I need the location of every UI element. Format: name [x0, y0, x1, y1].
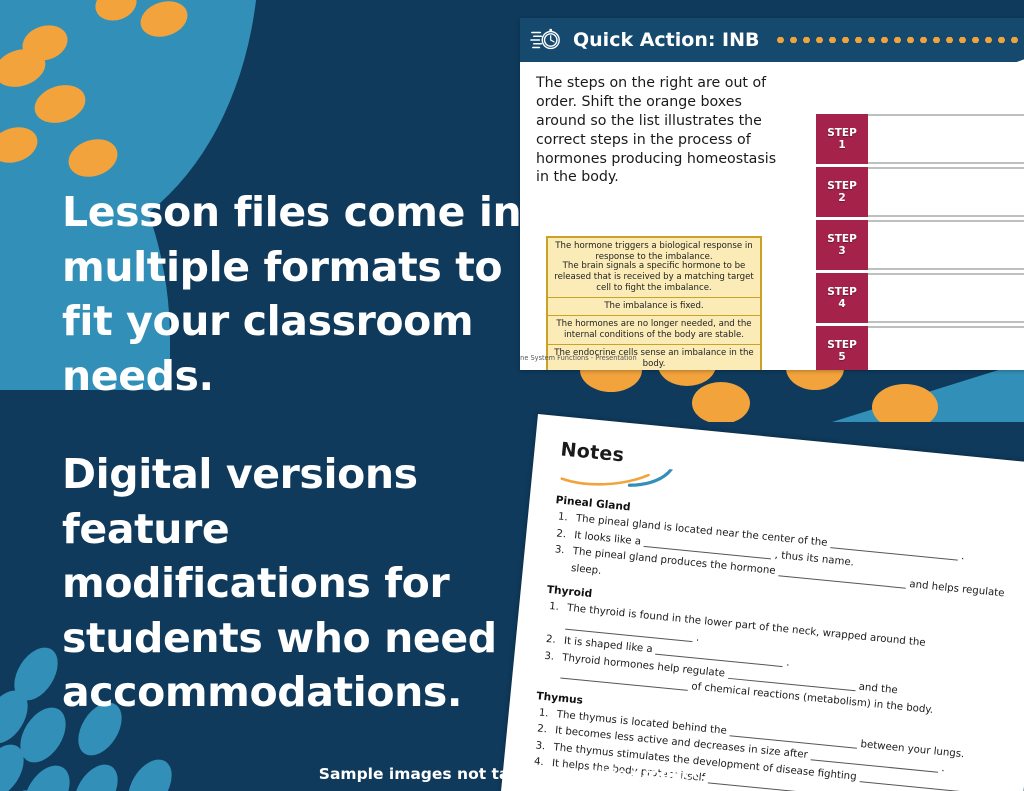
step-chip-label: STEP	[827, 286, 857, 298]
step-chip-label: STEP	[827, 233, 857, 245]
draggable-step-stack: The hormone triggers a biological respon…	[546, 236, 762, 370]
step-chip: STEP 3	[816, 220, 868, 270]
step-chip: STEP 2	[816, 167, 868, 217]
step-chip: STEP 4	[816, 273, 868, 323]
step-chip-number: 5	[838, 351, 845, 363]
list-number: 3.	[535, 738, 546, 755]
list-text-tail: .	[838, 786, 842, 791]
promo-headline-secondary: Digital versions feature modifications f…	[62, 447, 532, 720]
slide-body: The steps on the right are out of order.…	[520, 62, 1024, 370]
orange-dot	[64, 133, 123, 183]
step-row: STEP 2	[816, 167, 1024, 217]
step-chip-label: STEP	[827, 339, 857, 351]
step-row: STEP 5	[816, 326, 1024, 370]
step-drop-slot[interactable]	[868, 273, 1024, 323]
orange-dot	[91, 0, 141, 26]
sample-disclaimer-caption: Sample images not taken from this produc…	[0, 765, 1024, 783]
draggable-step-box[interactable]: The imbalance is fixed.	[548, 298, 760, 316]
list-number: 1.	[548, 599, 559, 616]
list-text-tail: .	[990, 785, 994, 791]
step-chip-number: 4	[838, 298, 845, 310]
slide-instructions: The steps on the right are out of order.…	[536, 74, 792, 187]
list-number: 2.	[536, 722, 547, 739]
list-number: 2.	[545, 632, 556, 649]
dotted-rule-decoration	[774, 37, 1024, 43]
step-chip: STEP 1	[816, 114, 868, 164]
step-chip-label: STEP	[827, 127, 857, 139]
fill-blank[interactable]	[560, 678, 687, 691]
slide-header-bar: Quick Action: INB	[520, 18, 1024, 62]
step-chip: STEP 5	[816, 326, 868, 370]
slide-title: Quick Action: INB	[573, 29, 760, 51]
draggable-step-box[interactable]: The hormones are no longer needed, and t…	[548, 316, 760, 345]
list-number: 3.	[544, 648, 555, 665]
orange-dot	[692, 382, 750, 422]
orange-dot	[136, 0, 192, 43]
step-row: STEP 4	[816, 273, 1024, 323]
step-slot-list: STEP 1 STEP 2 STEP 3	[816, 114, 1024, 370]
step-chip-number: 1	[838, 139, 845, 151]
orange-dot	[30, 79, 91, 129]
step-row: STEP 3	[816, 220, 1024, 270]
step-chip-label: STEP	[827, 180, 857, 192]
step-chip-number: 2	[838, 192, 845, 204]
decorative-band	[520, 362, 1024, 422]
list-text-tail: .	[961, 551, 965, 562]
step-drop-slot[interactable]	[868, 114, 1024, 164]
draggable-step-box[interactable]: The brain signals a specific hormone to …	[548, 258, 760, 298]
promo-headline-primary: Lesson files come in multiple formats to…	[62, 185, 532, 403]
promo-copy: Lesson files come in multiple formats to…	[62, 185, 532, 720]
step-drop-slot[interactable]	[868, 326, 1024, 370]
presentation-slide-preview: Quick Action: INB The steps on the right…	[520, 18, 1024, 370]
list-text-mid: and the	[858, 681, 898, 696]
notes-worksheet-preview: Notes Pineal Gland 1. The pineal gland i…	[501, 414, 1024, 791]
fill-blank[interactable]	[708, 783, 835, 791]
list-number: 2.	[556, 526, 567, 543]
orange-dot	[0, 121, 42, 168]
step-drop-slot[interactable]	[868, 220, 1024, 270]
orange-dot	[872, 384, 938, 422]
fill-blank[interactable]	[778, 575, 905, 588]
list-text-tail: .	[696, 632, 700, 643]
step-row: STEP 1	[816, 114, 1024, 164]
speeding-clock-icon	[530, 25, 562, 55]
step-drop-slot[interactable]	[868, 167, 1024, 217]
teal-wedge	[724, 362, 1024, 422]
list-number: 1.	[557, 509, 568, 526]
promo-slide-canvas: Lesson files come in multiple formats to…	[0, 0, 1024, 791]
list-number: 1.	[538, 705, 549, 722]
list-number: 3.	[554, 542, 565, 559]
list-text-tail: .	[786, 658, 790, 669]
step-chip-number: 3	[838, 245, 845, 257]
slide-footer-text: crine System Functions - Presentation	[520, 354, 637, 362]
